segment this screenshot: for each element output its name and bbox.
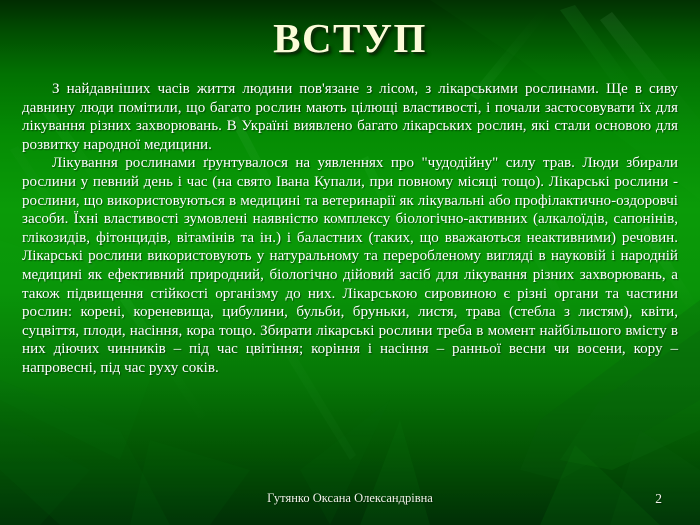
slide-number: 2: [655, 491, 662, 507]
paragraph-2: Лікування рослинами ґрунтувалося на уявл…: [22, 154, 678, 377]
slide-body-text: З найдавніших часів життя людини пов'яза…: [22, 80, 678, 378]
presentation-slide: ВСТУП З найдавніших часів життя людини п…: [0, 0, 700, 525]
paragraph-1: З найдавніших часів життя людини пов'яза…: [22, 80, 678, 154]
page-title: ВСТУП: [0, 16, 700, 61]
footer-author: Гутянко Оксана Олександрівна: [0, 491, 700, 506]
slide-footer: Гутянко Оксана Олександрівна 2: [0, 491, 700, 509]
